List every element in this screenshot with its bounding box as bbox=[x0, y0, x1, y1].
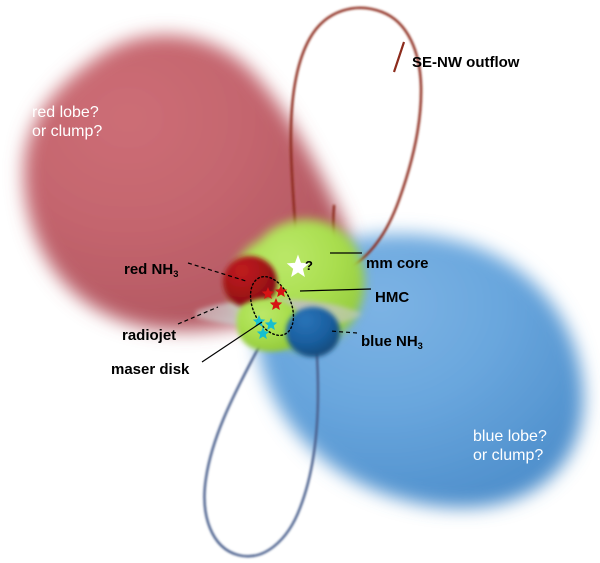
figure-canvas: SE-NW outflow red lobe? or clump? blue l… bbox=[0, 0, 600, 563]
leader-se-nw-outflow bbox=[394, 42, 404, 72]
label-red-lobe-line2: or clump? bbox=[32, 123, 102, 142]
label-blue-lobe: blue lobe? or clump? bbox=[473, 428, 547, 466]
label-red-lobe: red lobe? or clump? bbox=[32, 104, 102, 142]
leader-hmc bbox=[300, 289, 371, 291]
label-red-nh3-text: red NH bbox=[124, 261, 173, 278]
leader-radiojet bbox=[178, 307, 218, 324]
label-maser-disk-text: maser disk bbox=[111, 361, 189, 378]
label-se-nw-outflow-text: SE-NW outflow bbox=[412, 54, 519, 71]
leader-maser-disk bbox=[202, 322, 262, 362]
label-mm-core: mm core bbox=[366, 255, 429, 273]
label-blue-lobe-line1: blue lobe? bbox=[473, 428, 547, 447]
label-blue-lobe-line2: or clump? bbox=[473, 447, 547, 466]
label-se-nw-outflow: SE-NW outflow bbox=[412, 54, 519, 72]
leader-lines-layer bbox=[0, 0, 600, 563]
label-red-lobe-line1: red lobe? bbox=[32, 104, 102, 123]
label-blue-nh3: blue NH3 bbox=[361, 333, 423, 351]
leader-blue-nh3 bbox=[330, 331, 357, 333]
label-blue-nh3-subscript: 3 bbox=[418, 341, 423, 351]
label-maser-disk: maser disk bbox=[111, 361, 189, 379]
label-blue-nh3-text: blue NH bbox=[361, 333, 418, 350]
label-mm-core-text: mm core bbox=[366, 255, 429, 272]
label-red-nh3: red NH3 bbox=[124, 261, 178, 279]
label-radiojet-text: radiojet bbox=[122, 327, 176, 344]
label-hmc-text: HMC bbox=[375, 289, 409, 306]
label-hmc: HMC bbox=[375, 289, 409, 307]
label-red-nh3-subscript: 3 bbox=[173, 269, 178, 279]
label-radiojet: radiojet bbox=[122, 327, 176, 345]
label-core-question-mark: ? bbox=[305, 258, 313, 273]
leader-red-nh3 bbox=[188, 263, 246, 281]
